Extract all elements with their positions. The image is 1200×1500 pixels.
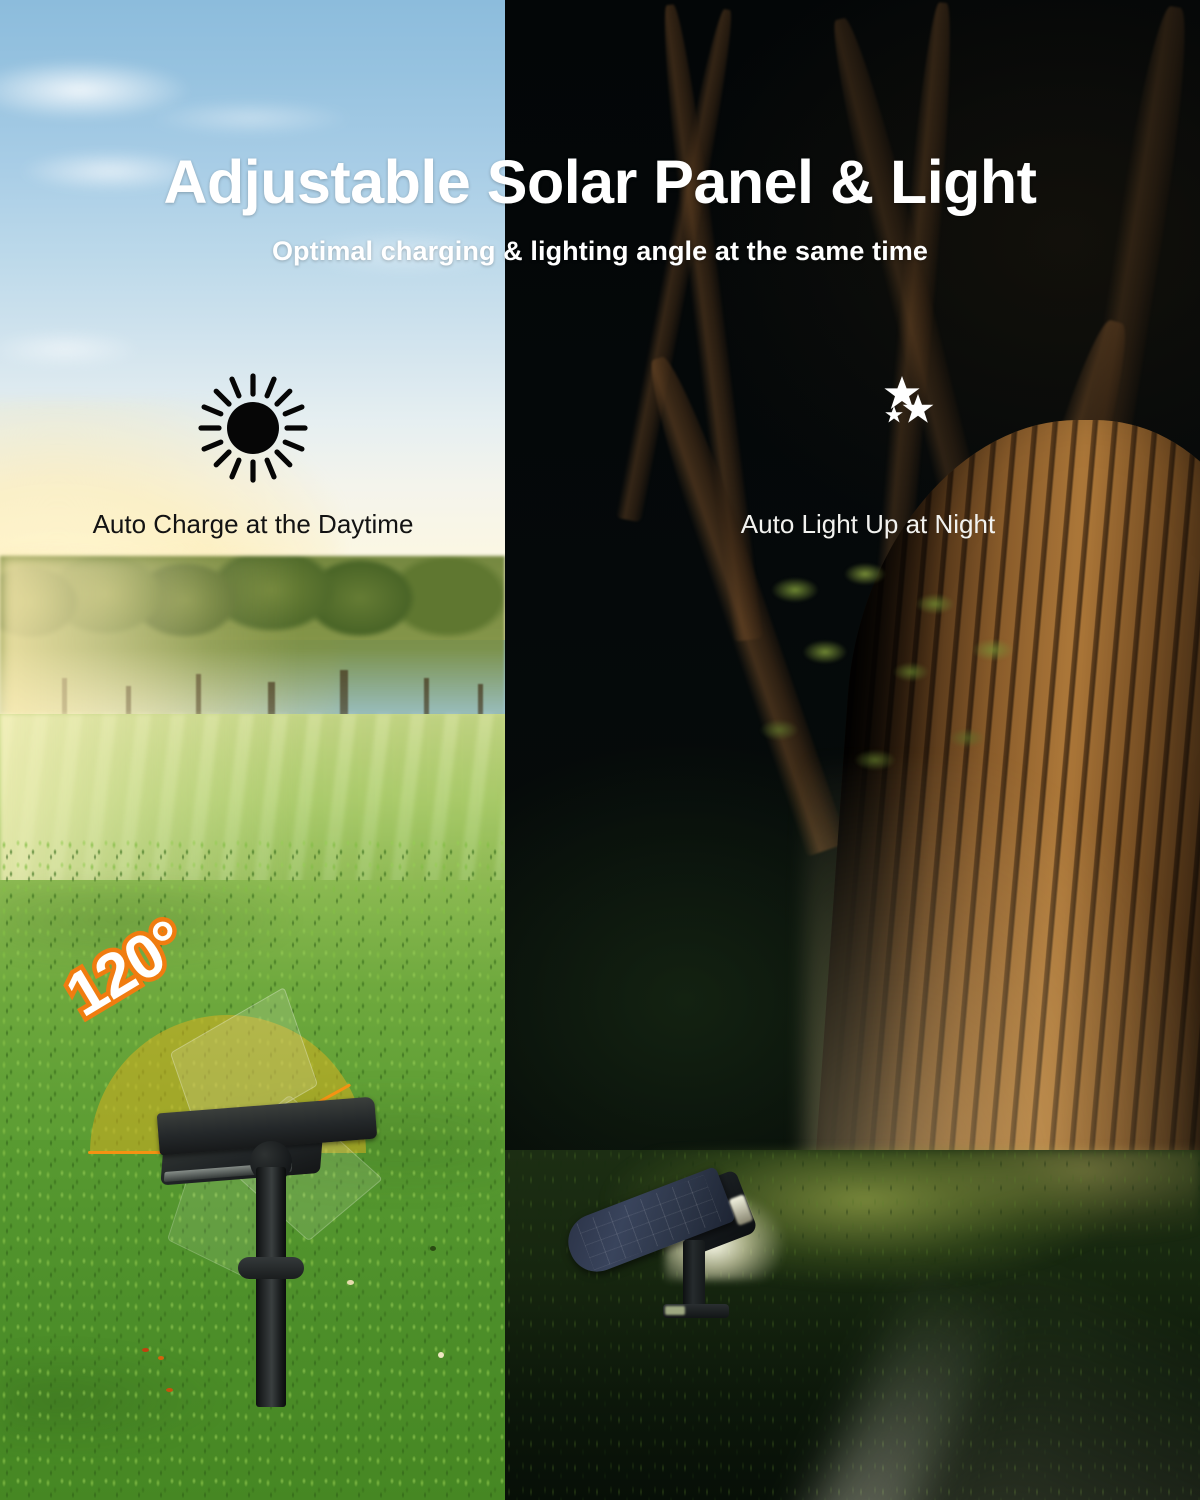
product-feature-image: 120° [0, 0, 1200, 1500]
feature-daytime-charging: Auto Charge at the Daytime [68, 368, 438, 539]
day-solar-stake-light [150, 1105, 390, 1405]
grass-fleck [438, 1352, 444, 1358]
night-solar-spotlight [565, 1170, 765, 1350]
day-scene-panel: 120° [0, 0, 505, 1500]
grass-fleck [430, 1246, 436, 1251]
base-highlight [665, 1306, 685, 1315]
foliage [755, 560, 1055, 840]
cloud [0, 330, 140, 368]
solar-panel [560, 1166, 736, 1280]
mount-stem [683, 1240, 705, 1308]
cloud [150, 100, 350, 136]
feature-nighttime-lighting: Auto Light Up at Night [700, 368, 1036, 539]
cloud [300, 230, 505, 276]
moon-stars-icon [700, 368, 1036, 488]
grass-fleck [142, 1348, 149, 1352]
stake-collar [238, 1257, 304, 1279]
night-scene-panel [505, 0, 1200, 1500]
feature-label: Auto Charge at the Daytime [68, 510, 438, 539]
feature-label: Auto Light Up at Night [700, 510, 1036, 539]
ground-stake-pole [256, 1167, 286, 1407]
cloud [20, 150, 200, 192]
sun-icon [68, 368, 438, 488]
